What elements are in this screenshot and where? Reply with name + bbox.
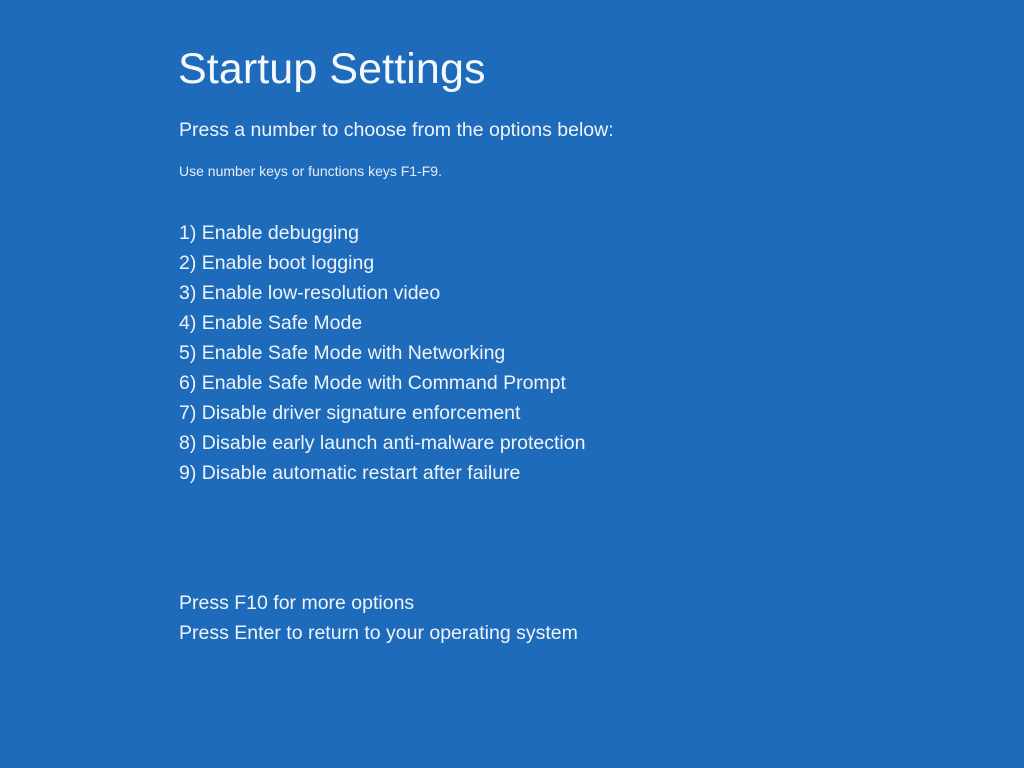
startup-option-2[interactable]: 2) Enable boot logging (179, 248, 585, 278)
option-label: Enable low-resolution video (202, 282, 440, 304)
option-label: Disable driver signature enforcement (202, 402, 521, 424)
option-key: 7) (179, 402, 196, 424)
startup-option-7[interactable]: 7) Disable driver signature enforcement (179, 398, 585, 428)
option-key: 2) (179, 252, 196, 274)
startup-settings-screen: Startup Settings Press a number to choos… (0, 0, 1024, 768)
content-column: Startup Settings Press a number to choos… (178, 0, 998, 768)
startup-option-5[interactable]: 5) Enable Safe Mode with Networking (179, 338, 585, 368)
option-key: 6) (179, 372, 196, 394)
key-hint-text: Use number keys or functions keys F1-F9. (179, 163, 442, 180)
option-label: Enable Safe Mode (202, 312, 362, 334)
option-key: 4) (179, 312, 196, 334)
option-label: Enable Safe Mode with Networking (202, 342, 506, 364)
option-key: 5) (179, 342, 196, 364)
startup-option-8[interactable]: 8) Disable early launch anti-malware pro… (179, 428, 585, 458)
option-label: Enable debugging (202, 222, 359, 244)
option-label: Enable Safe Mode with Command Prompt (202, 372, 566, 394)
option-key: 9) (179, 462, 196, 484)
footer-actions: Press F10 for more options Press Enter t… (179, 588, 578, 648)
startup-option-1[interactable]: 1) Enable debugging (179, 218, 585, 248)
more-options-action[interactable]: Press F10 for more options (179, 588, 578, 618)
startup-options-list: 1) Enable debugging2) Enable boot loggin… (179, 218, 585, 488)
startup-option-4[interactable]: 4) Enable Safe Mode (179, 308, 585, 338)
startup-option-9[interactable]: 9) Disable automatic restart after failu… (179, 458, 585, 488)
option-label: Disable early launch anti-malware protec… (202, 432, 586, 454)
instruction-text: Press a number to choose from the option… (179, 119, 614, 142)
option-label: Disable automatic restart after failure (202, 462, 521, 484)
option-key: 8) (179, 432, 196, 454)
option-key: 3) (179, 282, 196, 304)
startup-option-6[interactable]: 6) Enable Safe Mode with Command Prompt (179, 368, 585, 398)
option-key: 1) (179, 222, 196, 244)
startup-option-3[interactable]: 3) Enable low-resolution video (179, 278, 585, 308)
return-to-os-action[interactable]: Press Enter to return to your operating … (179, 618, 578, 648)
page-title: Startup Settings (178, 47, 486, 92)
option-label: Enable boot logging (202, 252, 374, 274)
